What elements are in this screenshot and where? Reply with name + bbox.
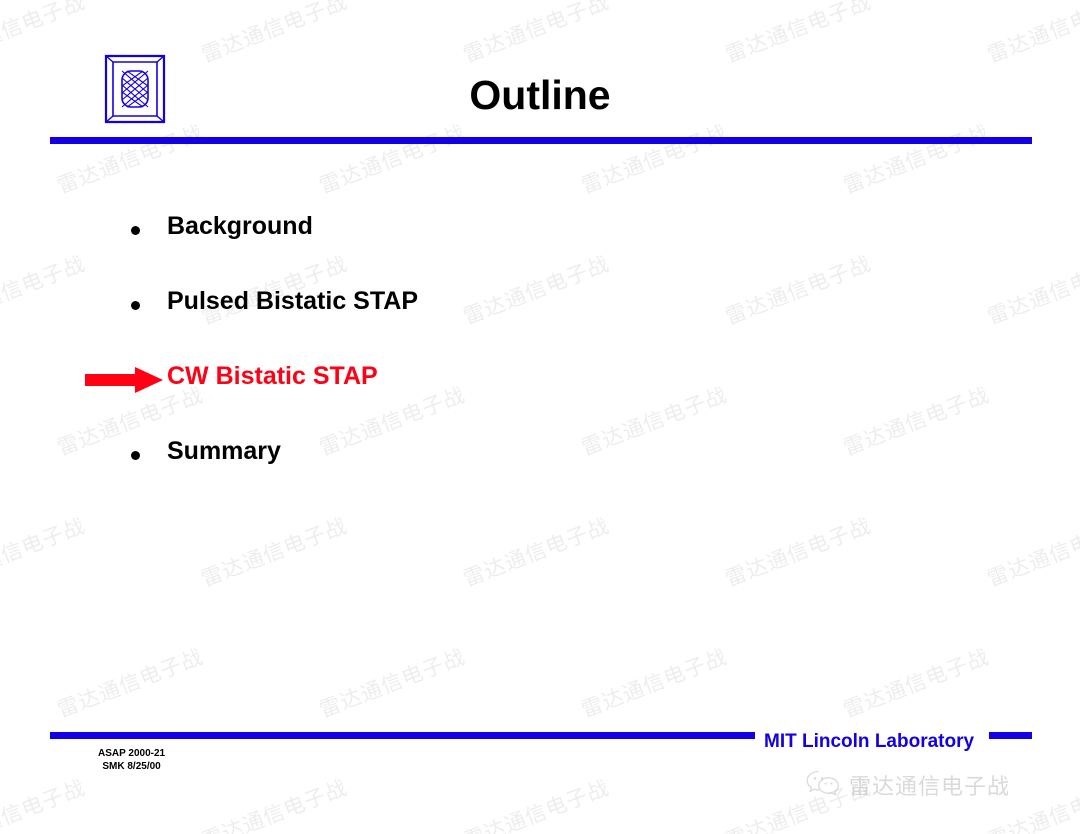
list-item[interactable]: Background	[0, 212, 1080, 287]
watermark-text: 雷达通信电子战	[197, 510, 352, 593]
footer-divider-right	[989, 732, 1032, 739]
list-item[interactable]: Pulsed Bistatic STAP	[0, 287, 1080, 362]
channel-watermark: 雷达通信电子战	[806, 769, 1010, 801]
channel-name: 雷达通信电子战	[849, 769, 1010, 801]
watermark-text: 雷达通信电子战	[0, 510, 89, 593]
bullet-dot-icon	[131, 451, 140, 460]
list-item-label: Background	[167, 212, 313, 241]
list-item[interactable]: Summary	[0, 437, 1080, 512]
watermark-text: 雷达通信电子战	[53, 117, 208, 200]
list-item-label: Pulsed Bistatic STAP	[167, 287, 418, 316]
watermark-text: 雷达通信电子战	[315, 117, 470, 200]
watermark-text: 雷达通信电子战	[839, 641, 994, 724]
red-arrow-icon	[85, 367, 163, 393]
organization-name: MIT Lincoln Laboratory	[764, 731, 974, 753]
list-item-current[interactable]: CW Bistatic STAP	[0, 362, 1080, 437]
watermark-text: 雷达通信电子战	[0, 772, 89, 834]
watermark-text: 雷达通信电子战	[0, 0, 89, 69]
watermark-text: 雷达通信电子战	[721, 0, 876, 69]
watermark-text: 雷达通信电子战	[577, 641, 732, 724]
wechat-icon	[806, 770, 840, 801]
watermark-text: 雷达通信电子战	[983, 0, 1080, 69]
outline-bullet-list: Background Pulsed Bistatic STAP CW Bista…	[0, 212, 1080, 512]
watermark-text: 雷达通信电子战	[839, 117, 994, 200]
slide-canvas: 雷达通信电子战雷达通信电子战雷达通信电子战雷达通信电子战雷达通信电子战雷达通信电…	[0, 0, 1080, 834]
watermark-text: 雷达通信电子战	[983, 510, 1080, 593]
watermark-text: 雷达通信电子战	[197, 772, 352, 834]
list-item-label: Summary	[167, 437, 281, 466]
page-title: Outline	[0, 72, 1080, 119]
watermark-text: 雷达通信电子战	[53, 641, 208, 724]
footer-divider-left	[50, 732, 755, 739]
document-id: ASAP 2000-21	[98, 747, 165, 760]
title-divider	[50, 137, 1032, 144]
document-date: SMK 8/25/00	[98, 760, 165, 773]
watermark-text: 雷达通信电子战	[459, 772, 614, 834]
watermark-text: 雷达通信电子战	[577, 117, 732, 200]
document-reference: ASAP 2000-21 SMK 8/25/00	[98, 747, 165, 773]
bullet-dot-icon	[131, 301, 140, 310]
watermark-text: 雷达通信电子战	[459, 510, 614, 593]
bullet-dot-icon	[131, 226, 140, 235]
list-item-label: CW Bistatic STAP	[167, 362, 378, 391]
watermark-text: 雷达通信电子战	[197, 0, 352, 69]
watermark-text: 雷达通信电子战	[459, 0, 614, 69]
watermark-text: 雷达通信电子战	[315, 641, 470, 724]
watermark-text: 雷达通信电子战	[721, 510, 876, 593]
